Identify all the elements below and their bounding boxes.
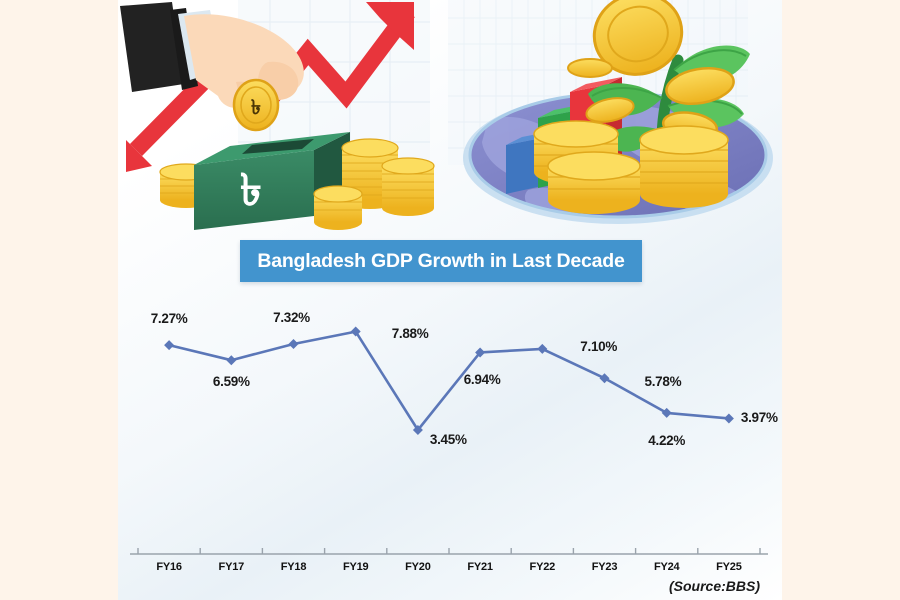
coin-stack-right-short	[314, 186, 362, 230]
data-point-marker[interactable]	[289, 339, 299, 349]
data-point-marker[interactable]	[537, 344, 547, 354]
data-point-label: 5.78%	[645, 374, 682, 389]
x-axis-label-fy23: FY23	[592, 561, 618, 573]
data-point-label: 6.59%	[213, 374, 250, 389]
gdp-growth-line-chart: 7.27%6.59%7.32%7.88%3.45%6.94%7.10%5.78%…	[118, 290, 782, 600]
money-box-icon: ৳	[160, 132, 434, 230]
data-point-label: 7.88%	[392, 326, 429, 341]
source-note: (Source:BBS)	[669, 578, 760, 594]
data-point-marker[interactable]	[600, 373, 610, 383]
data-point-label: 6.94%	[464, 372, 501, 387]
data-point-label: 4.22%	[648, 433, 685, 448]
coin-stack-globe-right	[640, 126, 728, 208]
x-axis-label-fy19: FY19	[343, 561, 369, 573]
chart-title-banner: Bangladesh GDP Growth in Last Decade	[240, 240, 642, 282]
svg-text:৳: ৳	[251, 97, 261, 119]
x-axis-label-fy21: FY21	[467, 561, 493, 573]
x-axis-label-fy20: FY20	[405, 561, 431, 573]
header-illustration: ৳	[118, 0, 782, 232]
coin-stack-globe-front	[548, 152, 640, 214]
data-point-marker[interactable]	[724, 413, 734, 423]
coin-stack-right-mid	[382, 158, 434, 216]
x-axis-label-fy24: FY24	[654, 561, 680, 573]
infographic-root: ৳	[0, 0, 900, 600]
data-point-label: 3.45%	[430, 432, 467, 447]
data-point-label: 7.10%	[580, 339, 617, 354]
x-axis	[130, 548, 768, 554]
data-point-label: 7.27%	[151, 311, 188, 326]
data-point-marker[interactable]	[226, 355, 236, 365]
x-axis-label-fy16: FY16	[156, 561, 182, 573]
x-axis-label-fy22: FY22	[530, 561, 556, 573]
data-point-marker[interactable]	[164, 340, 174, 350]
data-point-label: 7.32%	[273, 310, 310, 325]
data-point-label: 3.97%	[741, 410, 778, 425]
data-point-marker[interactable]	[662, 408, 672, 418]
x-axis-label-fy25: FY25	[716, 561, 742, 573]
svg-text:৳: ৳	[240, 166, 262, 215]
page-title: Bangladesh GDP Growth in Last Decade	[257, 250, 624, 273]
x-axis-label-fy17: FY17	[219, 561, 245, 573]
x-axis-label-fy18: FY18	[281, 561, 307, 573]
